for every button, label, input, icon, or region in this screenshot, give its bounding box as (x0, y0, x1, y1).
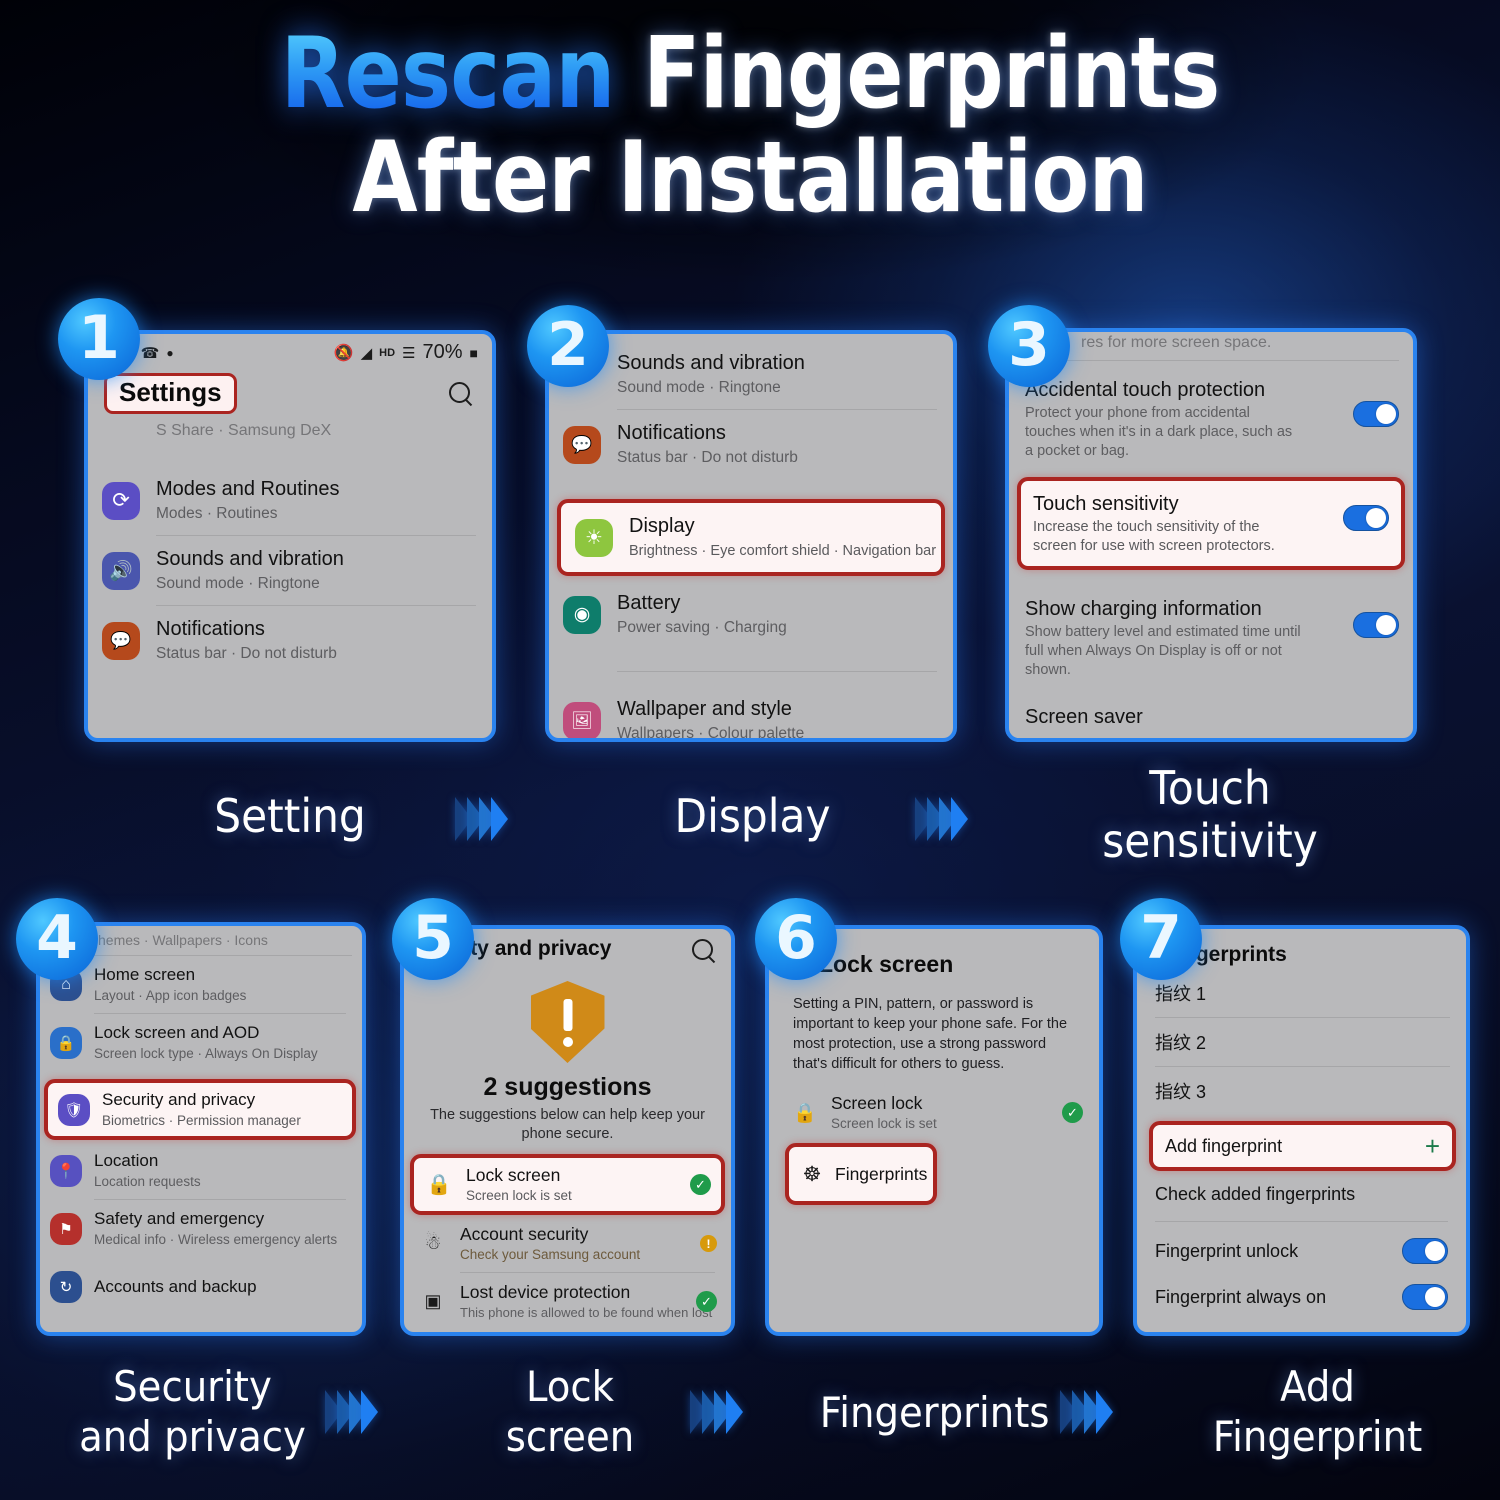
charging-info-toggle[interactable] (1353, 612, 1399, 638)
list-item[interactable]: Sounds and vibrationSound mode · Rington… (549, 346, 953, 409)
list-item-subtitle: Layout · App icon badges (94, 987, 352, 1005)
list-item-title: Safety and emergency (94, 1208, 352, 1230)
suggestions-heading: 2 suggestions (404, 1073, 731, 1102)
list-item-check-added[interactable]: Check added fingerprints (1137, 1171, 1466, 1215)
toggle-row-subtitle: Increase the touch sensitivity of the sc… (1033, 518, 1301, 556)
suggestions-body: The suggestions below can help keep your… (422, 1106, 713, 1144)
step-badge-5: 5 (392, 898, 474, 980)
battery-percent: 70% (423, 341, 463, 364)
list-item-subtitle: Wallpapers · Colour palette (617, 723, 939, 742)
list-item-fingerprints-highlighted[interactable]: ☸ Fingerprints (785, 1143, 937, 1205)
step-badge-1: 1 (58, 298, 140, 380)
wallpaper-icon: 🖼 (563, 702, 601, 740)
chevron-icon (491, 797, 508, 841)
list-item[interactable]: ⟳ Modes and RoutinesModes · Routines (88, 466, 492, 535)
list-item-subtitle: Location requests (94, 1173, 352, 1191)
list-item[interactable]: ◉ BatteryPower saving · Charging (549, 580, 953, 649)
list-item-fingerprint-2[interactable]: 指纹 2 (1137, 1018, 1466, 1066)
plus-icon[interactable]: + (1425, 1136, 1440, 1156)
list-item-subtitle: Check your Samsung account (460, 1246, 700, 1264)
step-badge-3: 3 (988, 305, 1070, 387)
list-item-title: Lock screen (466, 1164, 690, 1186)
list-item-subtitle: This phone is allowed to be found when l… (460, 1304, 696, 1322)
list-item-fingerprint-1[interactable]: 指纹 1 (1137, 969, 1466, 1017)
lock-icon: 🔒 (50, 1027, 82, 1059)
list-item-title: Battery (617, 590, 939, 616)
call-icon: ☎ (141, 344, 160, 362)
volume-icon: 🔊 (102, 552, 140, 590)
add-fingerprint-button-highlighted[interactable]: Add fingerprint + (1149, 1121, 1456, 1171)
fingerprint-icon: ☸ (799, 1155, 825, 1193)
flow-caption-add-fingerprint: Add Fingerprint (1196, 1362, 1440, 1462)
chevron-icon (726, 1390, 743, 1434)
list-item-title: Fingerprints (835, 1163, 923, 1185)
status-check-icon: ✓ (696, 1291, 717, 1312)
phone-card-6[interactable]: Lock screen Setting a PIN, pattern, or p… (765, 925, 1103, 1336)
location-pin-icon: 📍 (50, 1155, 82, 1187)
chevron-icon (1096, 1390, 1113, 1434)
accounts-icon: ↻ (50, 1271, 82, 1303)
status-check-icon: ✓ (1062, 1102, 1083, 1123)
list-item-title: Accounts and backup (94, 1276, 352, 1298)
suggestion-lost-device[interactable]: ▣ Lost device protectionThis phone is al… (404, 1273, 731, 1330)
wifi-icon: ◢ (361, 344, 373, 362)
page-title: Lock screen (815, 951, 953, 977)
chevron-icon (951, 797, 968, 841)
battery-icon: ■ (470, 345, 478, 361)
list-item-fingerprint-3[interactable]: 指纹 3 (1137, 1067, 1466, 1115)
list-item-title: Check added fingerprints (1155, 1181, 1448, 1207)
status-warning-icon: ! (700, 1235, 717, 1252)
list-item-title: Account security (460, 1223, 700, 1245)
phone-card-5[interactable]: ecurity and privacy 2 suggestions The su… (400, 925, 735, 1336)
find-device-icon: ▣ (418, 1283, 448, 1321)
flow-arrow-5 (1060, 1390, 1108, 1434)
dot-icon: ● (166, 346, 173, 360)
list-item-subtitle: Biometrics · Permission manager (102, 1112, 342, 1130)
page-title: Rescan Fingerprints After Installation (0, 22, 1500, 230)
toggle-row-fingerprint-always-on[interactable]: Fingerprint always on (1137, 1272, 1466, 1310)
safety-icon: ⚑ (50, 1213, 82, 1245)
list-item-subtitle: Screen lock type · Always On Display (94, 1045, 352, 1063)
list-item-title: Sounds and vibration (156, 546, 478, 572)
toggle-row-title: Accidental touch protection (1025, 377, 1339, 403)
battery-settings-icon: ◉ (563, 596, 601, 634)
flow-caption-display: Display (654, 790, 852, 843)
status-bar: 🖻 ⊘ ☎ ● 🔕 ◢ HD ☰ 70% ■ (88, 334, 492, 367)
bell-muted-icon: 🔕 (334, 343, 354, 363)
suggestion-account-security[interactable]: ☃ Account securityCheck your Samsung acc… (404, 1215, 731, 1272)
list-item-title: Notifications (156, 616, 478, 642)
list-item-subtitle: Screen lock is set (466, 1187, 690, 1205)
list-item-subtitle: Medical info · Wireless emergency alerts (94, 1231, 352, 1249)
step-badge-4: 4 (16, 898, 98, 980)
phone-card-7[interactable]: ngerprints 指纹 1 指纹 2 指纹 3 Add fingerprin… (1133, 925, 1470, 1336)
title-accent-word: Rescan (281, 17, 615, 131)
touch-sensitivity-toggle[interactable] (1343, 505, 1389, 531)
search-icon[interactable] (691, 938, 717, 960)
title-line-2: After Installation (105, 126, 1395, 230)
add-fingerprint-label: Add fingerprint (1165, 1133, 1425, 1159)
toggle-row-title: Fingerprint unlock (1155, 1238, 1402, 1264)
list-item-title: Sounds and vibration (617, 350, 939, 376)
list-item-subtitle: Status bar · Do not disturb (617, 447, 939, 469)
list-item-screen-saver[interactable]: Screen saver (1009, 686, 1413, 730)
list-item-title: Lock screen and AOD (94, 1022, 352, 1044)
toggle-row-fingerprint-unlock[interactable]: Fingerprint unlock (1137, 1222, 1466, 1272)
phone-card-3[interactable]: res for more screen space. Accidental to… (1005, 328, 1417, 742)
search-icon[interactable] (448, 381, 474, 407)
list-item-title: Notifications (617, 420, 939, 446)
flow-caption-setting: Setting (189, 790, 391, 843)
warning-shield-icon (531, 981, 605, 1063)
list-item-title: Lost device protection (460, 1281, 696, 1303)
suggestion-lock-screen-highlighted[interactable]: 🔒 Lock screenScreen lock is set ✓ (410, 1154, 725, 1215)
list-item-subtitle: Sound mode · Ringtone (617, 377, 939, 399)
lock-outline-icon: 🔒 (791, 1094, 819, 1132)
phone-card-2[interactable]: Sounds and vibrationSound mode · Rington… (545, 330, 957, 742)
list-item-title: 指纹 2 (1155, 1030, 1448, 1056)
list-item-title: Home screen (94, 964, 352, 986)
list-item-title: Location (94, 1150, 352, 1172)
step-badge-6: 6 (755, 898, 837, 980)
list-item-title: Screen saver (1025, 704, 1399, 730)
notifications-icon: 💬 (102, 622, 140, 660)
toggle-row-title: Fingerprint always on (1155, 1284, 1402, 1310)
step-badge-2: 2 (527, 305, 609, 387)
settings-title-highlight: Settings (104, 373, 237, 414)
status-check-icon: ✓ (690, 1174, 711, 1195)
lock-outline-icon: 🔒 (424, 1166, 454, 1204)
list-item-subtitle: Screen lock is set (831, 1115, 1062, 1133)
title-line-1: Rescan Fingerprints (105, 22, 1395, 126)
fingerprint-unlock-toggle[interactable] (1402, 1238, 1448, 1264)
list-item-title: Modes and Routines (156, 476, 478, 502)
step-badge-7: 7 (1120, 898, 1202, 980)
flow-caption-fingerprints: Fingerprints (820, 1388, 1045, 1438)
list-item-subtitle: Brightness · Eye comfort shield · Naviga… (629, 540, 927, 562)
shield-icon: 🛡 (58, 1094, 90, 1126)
list-item[interactable]: 💬 NotificationsStatus bar · Do not distu… (549, 410, 953, 479)
partial-row-top: S Share · Samsung DeX (88, 418, 492, 440)
toggle-row-accidental-touch[interactable]: Accidental touch protection Protect your… (1009, 361, 1413, 471)
list-item-subtitle: Sound mode · Ringtone (156, 573, 478, 595)
list-item[interactable]: 🔊 Sounds and vibrationSound mode · Ringt… (88, 536, 492, 605)
account-icon: ☃ (418, 1225, 448, 1263)
fingerprint-always-on-toggle[interactable] (1402, 1284, 1448, 1310)
toggle-row-charging-info[interactable]: Show charging information Show battery l… (1009, 570, 1413, 686)
list-item[interactable]: 🔒 Lock screen and AODScreen lock type · … (40, 1014, 362, 1071)
divider (617, 671, 937, 672)
list-item[interactable]: ↻ Accounts and backup (40, 1257, 362, 1303)
flow-caption-lock-screen: Lock screen (483, 1362, 658, 1462)
display-icon: ☀ (575, 519, 613, 557)
lock-screen-description: Setting a PIN, pattern, or password is i… (793, 994, 1075, 1074)
title-rest-word: Fingerprints (614, 17, 1219, 131)
list-item-screen-lock[interactable]: 🔒 Screen lockScreen lock is set ✓ (769, 1074, 1099, 1139)
chevron-icon (361, 1390, 378, 1434)
list-item[interactable]: 🖼 Wallpaper and styleWallpapers · Colour… (549, 686, 953, 742)
toggle-row-subtitle: Protect your phone from accidental touch… (1025, 404, 1295, 461)
toggle-row-touch-sensitivity-highlighted[interactable]: Touch sensitivity Increase the touch sen… (1017, 477, 1405, 570)
flow-caption-touch-sensitivity: Touch sensitivity (1095, 762, 1325, 868)
flow-arrow-1 (455, 797, 503, 841)
toggle-row-title: Touch sensitivity (1033, 491, 1331, 517)
flow-arrow-3 (325, 1390, 373, 1434)
phone-card-4[interactable]: hemes · Wallpapers · Icons ⌂ Home screen… (36, 922, 366, 1336)
notifications-icon: 💬 (563, 426, 601, 464)
list-item[interactable]: 📍 LocationLocation requests (40, 1142, 362, 1199)
list-item-title: Screen lock (831, 1092, 1062, 1114)
list-item[interactable]: ⚑ Safety and emergencyMedical info · Wir… (40, 1200, 362, 1257)
hd-icon: HD (379, 347, 395, 359)
list-item-title: Display (629, 513, 927, 539)
list-item-title: 指纹 3 (1155, 1079, 1448, 1105)
flow-arrow-4 (690, 1390, 738, 1434)
list-item-title: Security and privacy (102, 1089, 342, 1111)
toggle-row-subtitle: Show battery level and estimated time un… (1025, 623, 1310, 680)
flow-arrow-2 (915, 797, 963, 841)
phone-card-1[interactable]: 🖻 ⊘ ☎ ● 🔕 ◢ HD ☰ 70% ■ Settings S Share … (84, 330, 496, 742)
card-header: Settings (88, 367, 492, 424)
toggle-row-title: Show charging information (1025, 596, 1339, 622)
flow-caption-security-privacy: Security and privacy (75, 1362, 310, 1462)
list-item-display-highlighted[interactable]: ☀ DisplayBrightness · Eye comfort shield… (557, 499, 945, 576)
list-item-title: Wallpaper and style (617, 696, 939, 722)
list-item-subtitle: Status bar · Do not disturb (156, 643, 478, 665)
list-item[interactable]: 💬 NotificationsStatus bar · Do not distu… (88, 606, 492, 675)
accidental-touch-toggle[interactable] (1353, 401, 1399, 427)
list-item-title: 指纹 1 (1155, 981, 1448, 1007)
list-item-subtitle: Modes · Routines (156, 503, 478, 525)
list-item-security-highlighted[interactable]: 🛡 Security and privacyBiometrics · Permi… (44, 1079, 356, 1140)
list-item-subtitle: Power saving · Charging (617, 617, 939, 639)
modes-icon: ⟳ (102, 482, 140, 520)
signal-5g-icon: ☰ (402, 344, 415, 362)
